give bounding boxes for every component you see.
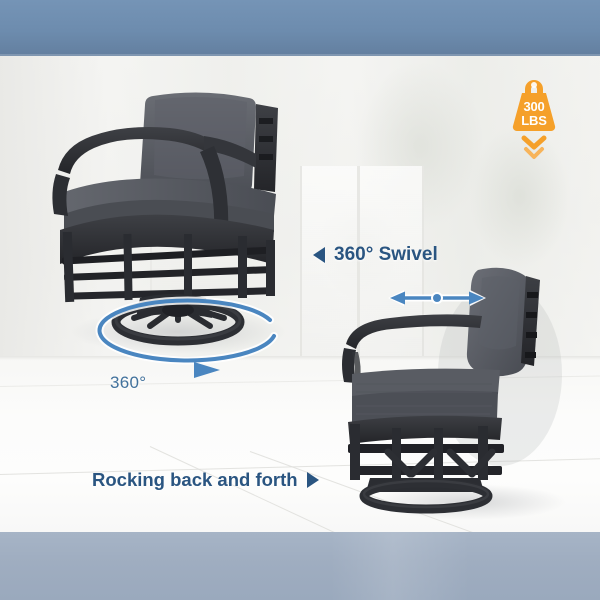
footer-sheen bbox=[330, 532, 470, 600]
triangle-right-icon bbox=[307, 472, 319, 488]
footer-banner bbox=[0, 532, 600, 600]
swivel-annotation-label: 360° Swivel bbox=[334, 244, 438, 266]
swivel-annotation: 360° Swivel bbox=[313, 244, 438, 266]
rocking-annotation-label: Rocking back and forth bbox=[92, 469, 298, 491]
rotation-ring-graphic bbox=[78, 278, 298, 388]
rotation-degree-label: 360° bbox=[110, 373, 146, 393]
weight-capacity-badge: 300 LBS bbox=[506, 76, 562, 162]
rocking-direction-arrow bbox=[386, 286, 488, 315]
header-banner bbox=[0, 0, 600, 56]
product-scene: 360° 360° Swivel bbox=[0, 56, 600, 532]
triangle-left-icon bbox=[313, 247, 325, 263]
rocking-annotation: Rocking back and forth bbox=[92, 469, 319, 491]
infographic-canvas: 360° 360° Swivel bbox=[0, 0, 600, 600]
